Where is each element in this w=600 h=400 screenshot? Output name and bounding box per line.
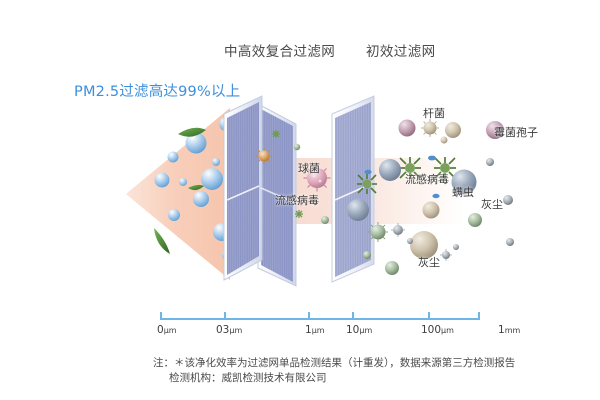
axis-label-1um: 1μm	[305, 324, 325, 336]
footnote: 注：＊该净化效率为过滤网单品检测结果（计重发），数据来源第三方检测报告 检测机构…	[153, 356, 583, 386]
particle-size-axis	[160, 312, 480, 320]
particle-label-bacillus: 杆菌	[423, 105, 445, 121]
particle-label-influenza-left: 流感病毒	[275, 192, 319, 208]
heading-hepa-filter: 中高效复合过滤网	[224, 40, 335, 60]
axis-label-1mm: 1mm	[498, 324, 520, 336]
axis-label-value: 0	[157, 324, 164, 336]
axis-label-value: 1	[498, 324, 505, 336]
axis-label-03um: 03μm	[216, 324, 242, 336]
particle-label-dust-lower: 灰尘	[418, 254, 440, 270]
axis-label-unit: mm	[505, 326, 521, 335]
axis-label-unit: μm	[229, 326, 242, 335]
axis-label-value: 03	[216, 324, 229, 336]
axis-label-100um: 100μm	[421, 324, 454, 336]
axis-label-unit: μm	[359, 326, 372, 335]
axis-tick	[478, 312, 480, 320]
axis-label-unit: μm	[312, 326, 325, 335]
axis-label-10um: 10μm	[346, 324, 372, 336]
axis-label-value: 100	[421, 324, 441, 336]
particle-label-dust-upper: 灰尘	[481, 196, 503, 212]
axis-label-0um: 0μm	[157, 324, 177, 336]
footnote-line-1: 注：＊该净化效率为过滤网单品检测结果（计重发），数据来源第三方检测报告	[153, 357, 515, 369]
axis-tick	[224, 312, 226, 320]
filtration-diagram: 中高效复合过滤网 初效过滤网 PM2.5过滤高达99%以上	[0, 0, 600, 400]
axis-label-value: 1	[305, 324, 312, 336]
particle-label-influenza-right: 流感病毒	[405, 171, 449, 187]
axis-label-unit: μm	[164, 326, 177, 335]
axis-tick	[308, 312, 310, 320]
axis-tick	[428, 312, 430, 320]
axis-tick	[160, 312, 162, 320]
particle-label-coccus: 球菌	[298, 160, 320, 176]
heading-pre-filter: 初效过滤网	[366, 40, 436, 60]
particle-label-mold-spore: 霉菌孢子	[494, 124, 538, 140]
axis-line	[160, 318, 480, 320]
axis-label-unit: μm	[441, 326, 454, 335]
particle-label-dust-mite: 螨虫	[452, 184, 474, 200]
footnote-line-2: 检测机构：威凯检测技术有限公司	[153, 371, 583, 386]
axis-tick	[352, 312, 354, 320]
axis-label-value: 10	[346, 324, 359, 336]
pm25-efficiency-callout: PM2.5过滤高达99%以上	[74, 80, 240, 101]
